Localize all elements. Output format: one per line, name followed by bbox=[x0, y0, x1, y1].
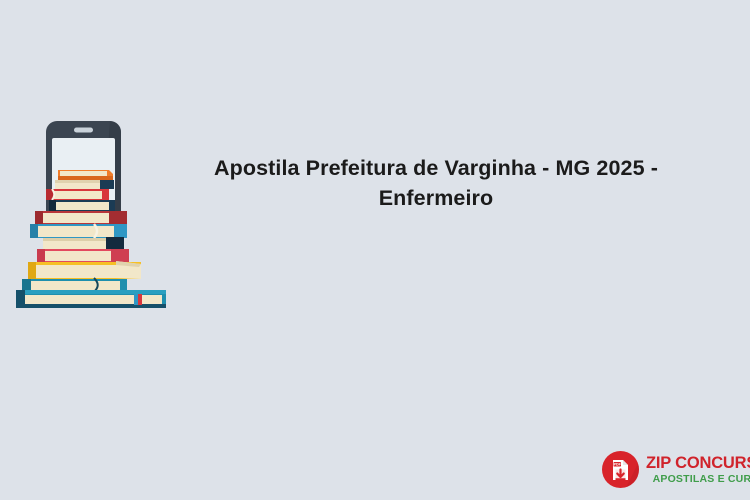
book-crimson bbox=[37, 249, 129, 262]
book-cream bbox=[55, 180, 114, 189]
book-blue-main bbox=[30, 224, 127, 238]
book-teal bbox=[22, 278, 127, 292]
pdf-download-circle-icon: PDF bbox=[601, 450, 640, 489]
book-darkred bbox=[35, 211, 127, 224]
book-orange-top bbox=[58, 170, 113, 181]
svg-text:PDF: PDF bbox=[614, 463, 622, 467]
brand-logo[interactable]: PDF ZIP CONCURSOS APOSTILAS E CURSOS bbox=[601, 449, 743, 490]
page-title: Apostila Prefeitura de Varginha - MG 202… bbox=[196, 153, 676, 213]
book-yellow bbox=[28, 261, 141, 279]
book-navy-upper bbox=[49, 200, 115, 211]
product-card: Apostila Prefeitura de Varginha - MG 202… bbox=[0, 0, 750, 500]
brand-tagline: APOSTILAS E CURSOS bbox=[646, 474, 750, 485]
book-cream-navy bbox=[43, 237, 124, 249]
brand-wordmark: ZIP CONCURSOS APOSTILAS E CURSOS bbox=[646, 455, 750, 485]
brand-name: ZIP CONCURSOS bbox=[646, 455, 750, 472]
book-red-upper bbox=[46, 189, 109, 200]
book-base bbox=[16, 290, 166, 308]
book-stack-tablet-illustration bbox=[8, 118, 183, 313]
